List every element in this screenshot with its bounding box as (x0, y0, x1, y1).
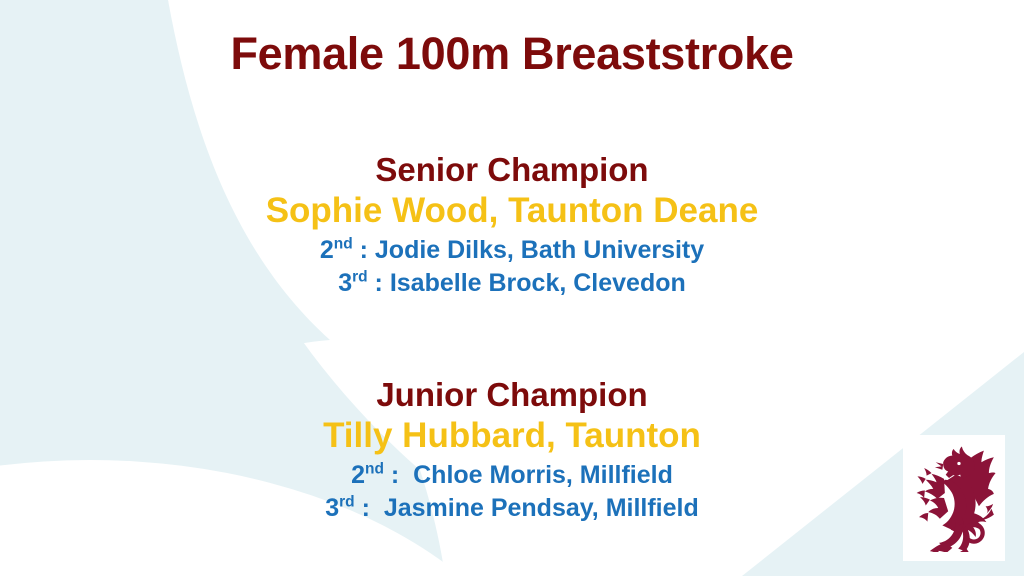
junior-champion-heading: Junior Champion (0, 377, 1024, 414)
junior-champion-name: Tilly Hubbard, Taunton (0, 414, 1024, 459)
junior-third-separator: : (355, 494, 384, 522)
senior-third-rank: 3 (338, 269, 352, 297)
senior-champion-name: Sophie Wood, Taunton Deane (0, 189, 1024, 234)
page-title: Female 100m Breaststroke (0, 28, 1024, 80)
junior-second-name: Chloe Morris, Millfield (413, 461, 673, 489)
junior-second-separator: : (384, 461, 413, 489)
junior-third-ordinal: rd (339, 494, 355, 511)
senior-champion-heading: Senior Champion (0, 152, 1024, 189)
dragon-icon (912, 444, 996, 552)
senior-third-ordinal: rd (352, 269, 368, 286)
senior-results-section: Senior Champion Sophie Wood, Taunton Dea… (0, 152, 1024, 300)
junior-second-rank: 2 (351, 461, 365, 489)
logo-container (903, 435, 1005, 561)
junior-results-section: Junior Champion Tilly Hubbard, Taunton 2… (0, 377, 1024, 525)
slide: Female 100m Breaststroke Senior Champion… (0, 0, 1024, 576)
slide-content: Female 100m Breaststroke Senior Champion… (0, 0, 1024, 576)
senior-second-ordinal: nd (334, 235, 353, 252)
junior-second-place: 2nd : Chloe Morris, Millfield (0, 459, 1024, 492)
junior-third-place: 3rd : Jasmine Pendsay, Millfield (0, 492, 1024, 525)
senior-second-place: 2nd : Jodie Dilks, Bath University (0, 234, 1024, 267)
senior-second-separator: : (353, 236, 375, 264)
junior-third-rank: 3 (325, 494, 339, 522)
senior-third-name: Isabelle Brock, Clevedon (390, 269, 686, 297)
junior-third-name: Jasmine Pendsay, Millfield (384, 494, 699, 522)
senior-second-name: Jodie Dilks, Bath University (375, 236, 704, 264)
junior-second-ordinal: nd (365, 460, 384, 477)
senior-third-separator: : (368, 269, 390, 297)
senior-third-place: 3rd : Isabelle Brock, Clevedon (0, 267, 1024, 300)
senior-second-rank: 2 (320, 236, 334, 264)
